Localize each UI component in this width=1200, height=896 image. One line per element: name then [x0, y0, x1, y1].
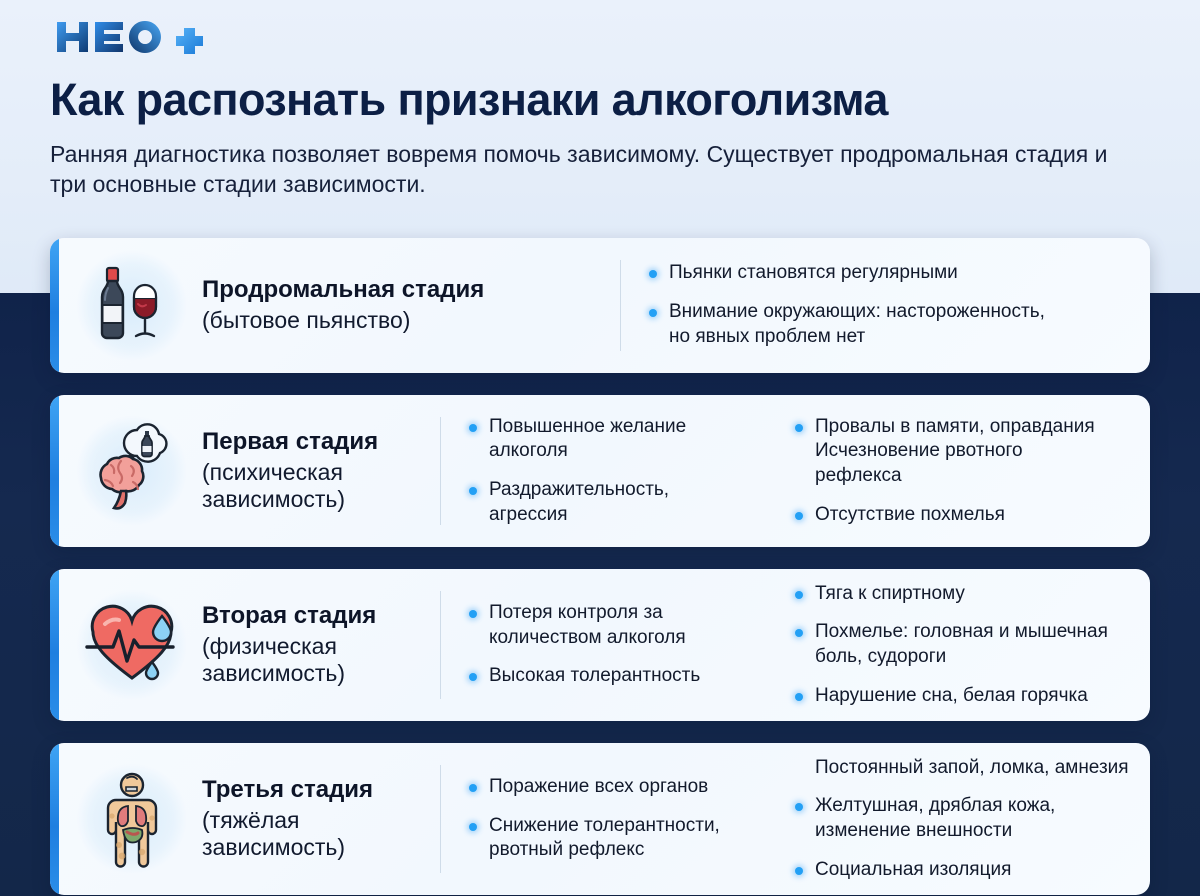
symptom-item: Тяга к спиртному — [793, 582, 1140, 607]
symptom-line: Повышенное желание — [489, 415, 761, 440]
symptom-line: Потеря контроля за — [489, 601, 761, 626]
stage-header: Продромальная стадия (бытовое пьянство) — [50, 238, 620, 373]
symptom-item: Потеря контроля за количеством алкоголя — [467, 601, 761, 650]
symptom-line: Пьянки становятся регулярными — [669, 261, 1140, 286]
symptom-line: Отсутствие похмелья — [815, 503, 1140, 528]
stage-card-prodromal[interactable]: Продромальная стадия (бытовое пьянство) … — [50, 238, 1150, 373]
symptom-item: Высокая толерантность — [467, 664, 761, 689]
symptom-line: Похмелье: головная и мышечная — [815, 620, 1140, 645]
header: Как распознать признаки алкоголизма Ранн… — [0, 0, 1200, 200]
symptom-line: Провалы в памяти, оправдания — [815, 415, 1140, 440]
symptom-line: Постоянный запой, ломка, амнезия — [815, 756, 1140, 781]
heart-with-pulse-icon — [76, 589, 188, 701]
symptom-item: Отсутствие похмелья — [793, 503, 1140, 528]
symptom-line: Поражение всех органов — [489, 775, 761, 800]
symptom-line: изменение внешности — [815, 819, 1140, 844]
symptom-line: Исчезновение рвотного — [815, 439, 1140, 464]
stage-header: Первая стадия (психическая зависимость) — [50, 395, 440, 547]
stage-card-list: Продромальная стадия (бытовое пьянство) … — [50, 238, 1150, 896]
symptom-column-1: Потеря контроля за количеством алкоголя … — [441, 569, 771, 721]
stage-title: Третья стадия — [202, 776, 440, 805]
symptom-item: Постоянный запой, ломка, амнезия — [793, 756, 1140, 781]
stage-text: Третья стадия (тяжёлая зависимость) — [202, 776, 440, 862]
stage-subtitle: (психическая зависимость) — [202, 459, 440, 514]
symptom-line: Нарушение сна, белая горячка — [815, 684, 1140, 709]
symptom-line: Снижение толерантности, — [489, 814, 761, 839]
page-subtitle: Ранняя диагностика позволяет вовремя пом… — [50, 139, 1110, 200]
page-title: Как распознать признаки алкоголизма — [50, 76, 1150, 125]
stage-header: Третья стадия (тяжёлая зависимость) — [50, 743, 440, 895]
symptom-item: Поражение всех органов — [467, 775, 761, 800]
symptom-line: Раздражительность, — [489, 478, 761, 503]
stage-title: Первая стадия — [202, 428, 440, 457]
symptom-line: Тяга к спиртному — [815, 582, 1140, 607]
stage-card-first[interactable]: Первая стадия (психическая зависимость) … — [50, 395, 1150, 547]
symptom-column-2: Тяга к спиртному Похмелье: головная и мы… — [771, 569, 1150, 721]
stage-subtitle: (физическая зависимость) — [202, 633, 440, 688]
stage-card-second[interactable]: Вторая стадия (физическая зависимость) П… — [50, 569, 1150, 721]
symptom-item: Провалы в памяти, оправдания Исчезновени… — [793, 415, 1140, 489]
symptom-column-2: Провалы в памяти, оправдания Исчезновени… — [771, 395, 1150, 547]
symptom-item: Похмелье: головная и мышечная боль, судо… — [793, 620, 1140, 669]
symptom-line: Внимание окружающих: настороженность, — [669, 300, 1140, 325]
stage-subtitle: (бытовое пьянство) — [202, 307, 484, 335]
symptom-line: боль, судороги — [815, 645, 1140, 670]
symptom-line: количеством алкоголя — [489, 626, 761, 651]
symptom-line: алкоголя — [489, 439, 761, 464]
symptom-line: агрессия — [489, 503, 761, 528]
symptom-column-1: Повышенное желание алкоголя Раздражитель… — [441, 395, 771, 547]
symptom-item: Нарушение сна, белая горячка — [793, 684, 1140, 709]
symptom-column-1: Поражение всех органов Снижение толерант… — [441, 743, 771, 895]
wine-bottle-and-glass-icon — [76, 250, 188, 362]
logo-mark-icon — [53, 16, 209, 58]
stage-card-third[interactable]: Третья стадия (тяжёлая зависимость) Пора… — [50, 743, 1150, 895]
symptom-item: Социальная изоляция — [793, 858, 1140, 883]
stage-text: Продромальная стадия (бытовое пьянство) — [202, 276, 484, 334]
symptom-line: Высокая толерантность — [489, 664, 761, 689]
symptom-column-1: Пьянки становятся регулярными Внимание о… — [621, 238, 1150, 373]
symptom-item: Пьянки становятся регулярными — [647, 261, 1140, 286]
symptom-line: но явных проблем нет — [669, 325, 1140, 350]
symptom-item: Раздражительность, агрессия — [467, 478, 761, 527]
symptom-item: Внимание окружающих: настороженность, но… — [647, 300, 1140, 349]
symptom-item: Желтушная, дряблая кожа, изменение внешн… — [793, 794, 1140, 843]
stage-title: Продромальная стадия — [202, 276, 484, 305]
neo-plus-logo — [53, 16, 1150, 58]
symptom-item: Повышенное желание алкоголя — [467, 415, 761, 464]
symptom-line: рефлекса — [815, 464, 1140, 489]
human-body-organs-icon — [76, 763, 188, 875]
stage-title: Вторая стадия — [202, 602, 440, 631]
stage-text: Вторая стадия (физическая зависимость) — [202, 602, 440, 688]
symptom-line: Социальная изоляция — [815, 858, 1140, 883]
symptom-line: рвотный рефлекс — [489, 838, 761, 863]
stage-text: Первая стадия (психическая зависимость) — [202, 428, 440, 514]
brain-with-bottle-thought-icon — [76, 415, 188, 527]
stage-header: Вторая стадия (физическая зависимость) — [50, 569, 440, 721]
symptom-line: Желтушная, дряблая кожа, — [815, 794, 1140, 819]
symptom-column-2: Постоянный запой, ломка, амнезия Желтушн… — [771, 743, 1150, 895]
symptom-item: Снижение толерантности, рвотный рефлекс — [467, 814, 761, 863]
stage-subtitle: (тяжёлая зависимость) — [202, 807, 440, 862]
